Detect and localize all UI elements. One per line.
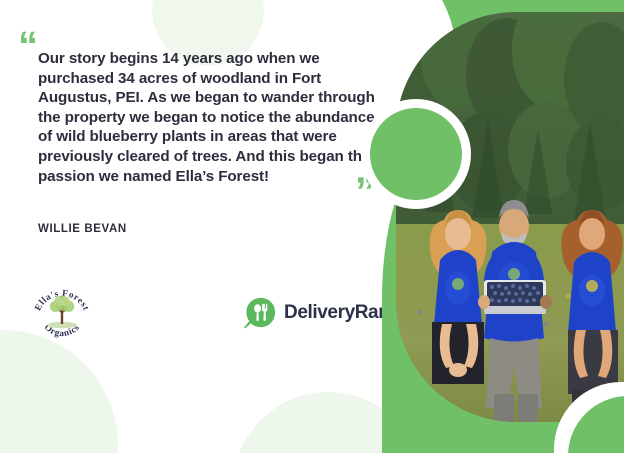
quote-author: WILLIE BEVAN	[38, 223, 127, 235]
team-photo	[396, 12, 624, 422]
green-circle-accent	[370, 108, 462, 200]
quote-close-mark: ”	[355, 172, 374, 212]
quote-open-mark: “	[18, 26, 37, 66]
person-left	[430, 210, 487, 384]
deliveryrank-logo[interactable]: DeliveryRank	[244, 297, 400, 329]
team-photo-illustration	[396, 12, 624, 422]
testimonial-card: “ Our story begins 14 years ago when we …	[0, 0, 624, 453]
spoon-fork-icon	[244, 297, 276, 329]
photo-panel	[382, 0, 624, 453]
ella-forest-logo-svg: Ella's Forest Organics	[30, 284, 94, 342]
quote-text: Our story begins 14 years ago when we pu…	[38, 49, 383, 186]
ella-forest-organics-logo: Ella's Forest Organics	[30, 284, 94, 342]
person-right	[561, 210, 622, 422]
quote-column: “ Our story begins 14 years ago when we …	[0, 0, 400, 453]
